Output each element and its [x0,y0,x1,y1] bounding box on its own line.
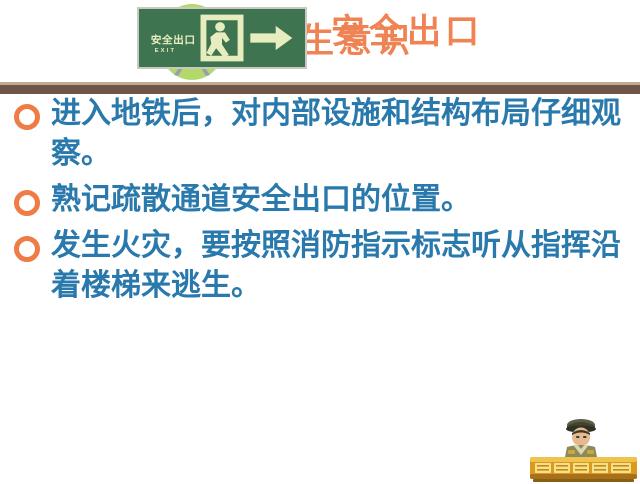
list-item: 进入地铁后，对内部设施和结构布局仔细观察。 [0,94,640,174]
header-content: 逃生意识 [0,0,640,82]
svg-text:EXIT: EXIT [155,48,177,54]
exit-sign-graphic: 安全出口 EXIT [139,9,305,67]
ring-bullet-icon [14,104,40,130]
list-item: 熟记疏散通道安全出口的位置。 [0,180,640,220]
bullet-list: 进入地铁后，对内部设施和结构布局仔细观察。 熟记疏散通道安全出口的位置。 发生火… [0,94,640,311]
exit-caption: 安全出口 [331,15,483,49]
list-item: 发生火灾，要按照消防指示标志听从指挥沿着楼梯来逃生。 [0,226,640,306]
header-divider [0,82,640,94]
svg-text:安全出口: 安全出口 [151,34,196,47]
divider-body [0,85,640,94]
list-item-text: 熟记疏散通道安全出口的位置。 [51,180,630,220]
emergency-exit-sign-icon: 安全出口 EXIT [137,7,307,69]
list-item-text: 发生火灾，要按照消防指示标志听从指挥沿着楼梯来逃生。 [51,226,630,306]
ring-bullet-icon [14,190,40,216]
list-item-text: 进入地铁后，对内部设施和结构布局仔细观察。 [51,94,630,174]
ring-bullet-icon [14,236,40,262]
firefighter-brand-logo [527,413,640,484]
page-header: 逃生意识 [0,0,640,82]
watermark-graphic [527,413,640,484]
